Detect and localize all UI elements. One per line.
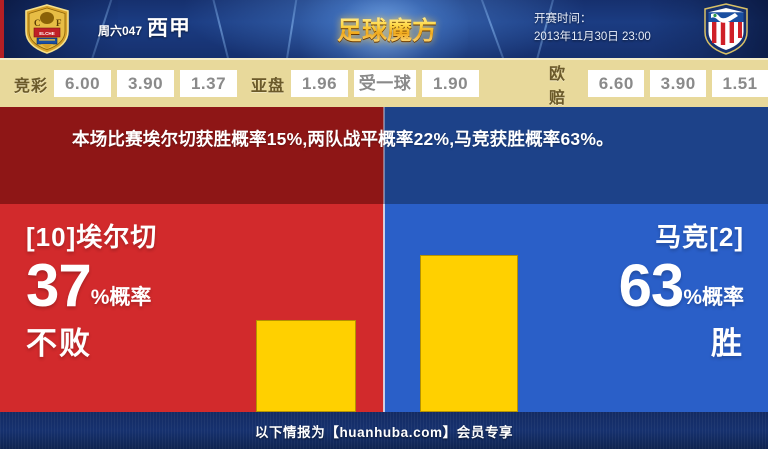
odds-group-label: 竞彩: [14, 72, 48, 96]
home-probability-suffix: %概率: [91, 287, 152, 314]
odds-value[interactable]: 1.37: [180, 70, 237, 97]
handicap-value[interactable]: 受一球: [354, 70, 416, 97]
odds-group-oupei: 欧赔 6.60 3.90 1.51: [549, 60, 768, 108]
elche-cf-crest-icon: C F ELCHE: [22, 4, 72, 54]
odds-value[interactable]: 3.90: [117, 70, 174, 97]
odds-value[interactable]: 1.96: [291, 70, 348, 97]
odds-value[interactable]: 3.90: [650, 70, 706, 97]
away-prediction-block: 马竞[2] 63 %概率 胜: [619, 220, 744, 362]
light-streak-icon: [470, 0, 516, 58]
away-probability-suffix: %概率: [683, 287, 744, 314]
away-probability-row: 63 %概率: [619, 258, 744, 314]
match-round-label: 周六047: [98, 22, 142, 39]
band-divider: [383, 107, 385, 204]
odds-bar: 竞彩 6.00 3.90 1.37 亚盘 1.96 受一球 1.90 欧赔 6.…: [0, 58, 768, 107]
brand-logo-text: 足球魔方: [337, 11, 437, 47]
svg-text:C: C: [34, 18, 41, 28]
kickoff-label: 开赛时间：: [534, 10, 651, 28]
league-block: 周六047 西甲: [98, 12, 191, 46]
odds-group-jingcai: 竞彩 6.00 3.90 1.37: [14, 70, 237, 97]
away-team-name: 马竞[2]: [619, 220, 744, 254]
footer-bar: 以下情报为【huanhuba.com】会员专享: [0, 412, 768, 449]
light-streak-icon: [205, 0, 238, 58]
panel-divider: [383, 204, 385, 412]
kickoff-block: 开赛时间： 2013年11月30日 23:00: [534, 10, 651, 46]
bar-away-probability: [420, 255, 518, 412]
statement-text: 本场比赛埃尔切获胜概率15%,两队战平概率22%,马竞获胜概率63%。: [72, 124, 712, 155]
odds-group-label: 亚盘: [251, 72, 285, 96]
kickoff-datetime: 2013年11月30日 23:00: [534, 28, 651, 46]
prediction-graphic: C F ELCHE 周六047 西甲 足球魔方 开赛时间： 2013年11月30…: [0, 0, 768, 449]
statement-band-left: [0, 107, 384, 204]
away-outcome-label: 胜: [619, 326, 744, 362]
odds-value[interactable]: 1.51: [712, 70, 768, 97]
odds-value[interactable]: 1.90: [422, 70, 479, 97]
home-probability-value: 37: [26, 258, 91, 314]
header-bar: C F ELCHE 周六047 西甲 足球魔方 开赛时间： 2013年11月30…: [0, 0, 768, 58]
prediction-chart: [10]埃尔切 37 %概率 不败 马竞[2] 63 %概率 胜: [0, 204, 768, 412]
header-accent-line: [0, 0, 4, 58]
statement-band-right: [384, 107, 768, 204]
bar-home-probability: [256, 320, 356, 412]
odds-value[interactable]: 6.00: [54, 70, 111, 97]
footer-text: 以下情报为【huanhuba.com】会员专享: [255, 421, 513, 441]
league-name-label: 西甲: [147, 12, 191, 42]
statement-band: 本场比赛埃尔切获胜概率15%,两队战平概率22%,马竞获胜概率63%。: [0, 107, 768, 204]
svg-text:ELCHE: ELCHE: [39, 31, 55, 36]
light-streak-icon: [280, 0, 302, 58]
svg-text:F: F: [56, 18, 62, 28]
brand-logo[interactable]: 足球魔方: [332, 12, 442, 46]
home-team-name: [10]埃尔切: [26, 220, 157, 254]
odds-group-label: 欧赔: [549, 60, 582, 108]
home-probability-row: 37 %概率: [26, 258, 157, 314]
odds-group-yapan: 亚盘 1.96 受一球 1.90: [251, 70, 479, 97]
odds-value[interactable]: 6.60: [588, 70, 644, 97]
home-prediction-block: [10]埃尔切 37 %概率 不败: [26, 220, 157, 362]
home-outcome-label: 不败: [26, 326, 157, 362]
atletico-madrid-crest-icon: [702, 3, 750, 55]
away-probability-value: 63: [619, 258, 684, 314]
